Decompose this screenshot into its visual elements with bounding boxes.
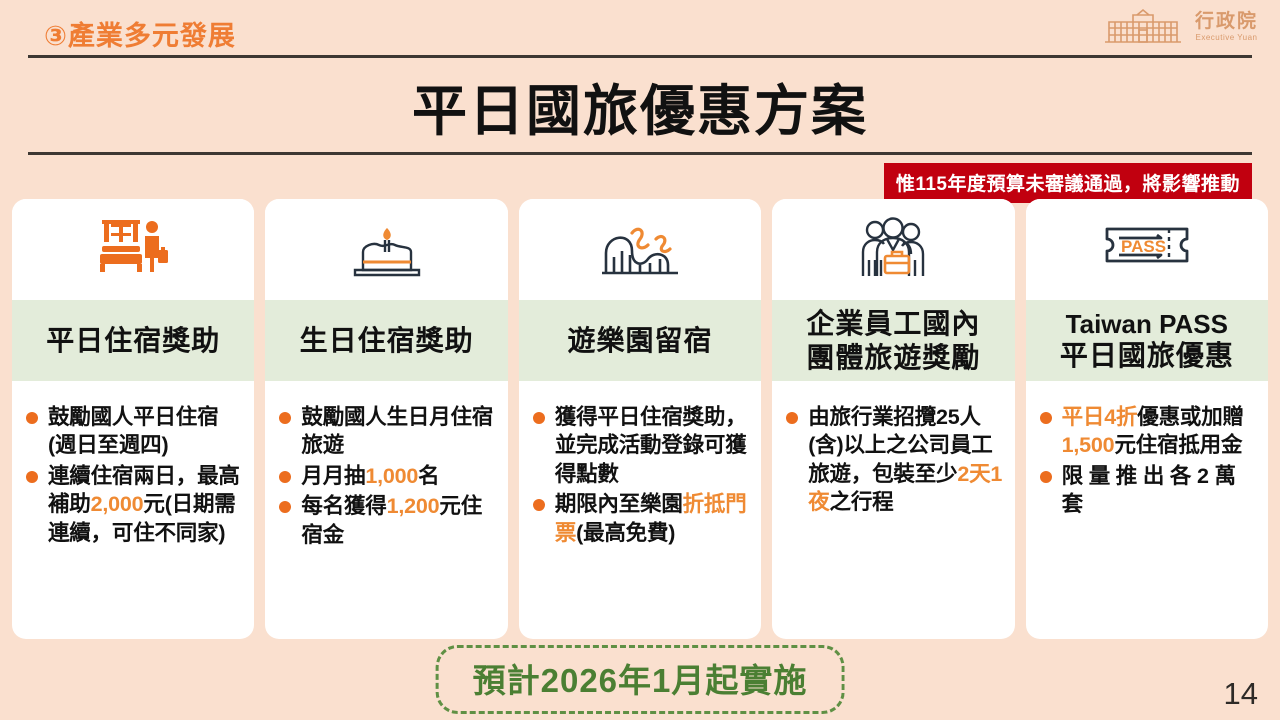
list-item: 每名獲得1,200元住宿金 [277, 492, 495, 549]
card-icon [772, 199, 1014, 300]
list-item: 平日4折優惠或加贈1,500元住宿抵用金 [1038, 403, 1256, 460]
card-title-line: 平日國旅優惠 [1060, 339, 1234, 372]
card-icon [12, 199, 254, 300]
bullet-text: 月月抽 [301, 464, 365, 488]
bullet-highlight: 平日4折 [1062, 405, 1138, 429]
program-card-list: 平日住宿獎助 鼓勵國人平日住宿(週日至週四) 連續住宿兩日，最高補助2,000元… [12, 199, 1268, 639]
bullet-list: 鼓勵國人生日月住宿旅遊 月月抽1,000名 每名獲得1,200元住宿金 [277, 403, 495, 549]
card-icon [265, 199, 507, 300]
bullet-highlight: 1,000 [365, 464, 418, 488]
logo-english: Executive Yuan [1195, 34, 1258, 42]
bullet-text: 鼓勵國人平日住宿(週日至週四) [48, 405, 218, 457]
page-title: 平日國旅優惠方案 [0, 66, 1280, 146]
bullet-text: 優惠或加贈 [1137, 405, 1244, 429]
bullet-highlight: 2,000 [91, 492, 144, 516]
card-body: 由旅行業招攬25人(含)以上之公司員工旅遊，包裝至少2天1夜之行程 [772, 381, 1014, 639]
pass-label: PASS [1121, 237, 1166, 256]
list-item: 限 量 推 出 各 2 萬套 [1038, 462, 1256, 519]
card-title: 企業員工國內 團體旅遊獎勵 [772, 300, 1014, 381]
card-icon: PASS [1026, 199, 1268, 300]
executive-yuan-logo: 行政院 Executive Yuan [1099, 6, 1258, 48]
card-title: 遊樂園留宿 [519, 300, 761, 381]
list-item: 鼓勵國人平日住宿(週日至週四) [24, 403, 242, 460]
list-item: 月月抽1,000名 [277, 462, 495, 490]
card-body: 鼓勵國人平日住宿(週日至週四) 連續住宿兩日，最高補助2,000元(日期需連續，… [12, 381, 254, 639]
program-card: 生日住宿獎助 鼓勵國人生日月住宿旅遊 月月抽1,000名 每名獲得1,200元住… [265, 199, 507, 639]
bullet-highlight: 1,500 [1062, 433, 1115, 457]
pass-ticket-icon: PASS [1099, 221, 1195, 279]
card-title: Taiwan PASS 平日國旅優惠 [1026, 300, 1268, 381]
card-title-line: 生日住宿獎助 [300, 324, 474, 357]
card-body: 平日4折優惠或加贈1,500元住宿抵用金 限 量 推 出 各 2 萬套 [1026, 381, 1268, 639]
bullet-text: 之行程 [830, 490, 894, 514]
section-tag: ③產業多元發展 [44, 14, 236, 53]
logo-text: 行政院 Executive Yuan [1195, 12, 1258, 42]
bullet-text: 每名獲得 [301, 494, 386, 518]
bullet-list: 獲得平日住宿獎助，並完成活動登錄可獲得點數 期限內至樂園折抵門票(最高免費) [531, 403, 749, 547]
roller-coaster-icon [598, 217, 682, 283]
card-title: 生日住宿獎助 [265, 300, 507, 381]
card-title: 平日住宿獎助 [12, 300, 254, 381]
bullet-list: 鼓勵國人平日住宿(週日至週四) 連續住宿兩日，最高補助2,000元(日期需連續，… [24, 403, 242, 547]
birthday-cake-icon [347, 218, 427, 282]
implementation-date-banner: 預計2026年1月起實施 [436, 645, 845, 714]
card-body: 獲得平日住宿獎助，並完成活動登錄可獲得點數 期限內至樂園折抵門票(最高免費) [519, 381, 761, 639]
program-card: 企業員工國內 團體旅遊獎勵 由旅行業招攬25人(含)以上之公司員工旅遊，包裝至少… [772, 199, 1014, 639]
slide: ③產業多元發展 行政院 Executive Yuan 平日國旅優惠方案 惟115… [0, 0, 1280, 720]
budget-notice-banner: 惟115年度預算未審議通過，將影響推動 [884, 163, 1252, 203]
card-title-line: 團體旅遊獎勵 [806, 341, 980, 374]
bullet-text: 名 [418, 464, 439, 488]
card-title-line: 遊樂園留宿 [568, 324, 713, 357]
bullet-text: 期限內至樂園 [555, 492, 683, 516]
list-item: 由旅行業招攬25人(含)以上之公司員工旅遊，包裝至少2天1夜之行程 [784, 403, 1002, 517]
bullet-text: 獲得平日住宿獎助，並完成活動登錄可獲得點數 [555, 405, 747, 486]
bullet-list: 平日4折優惠或加贈1,500元住宿抵用金 限 量 推 出 各 2 萬套 [1038, 403, 1256, 519]
program-card: 遊樂園留宿 獲得平日住宿獎助，並完成活動登錄可獲得點數 期限內至樂園折抵門票(最… [519, 199, 761, 639]
list-item: 期限內至樂園折抵門票(最高免費) [531, 490, 749, 547]
card-icon [519, 199, 761, 300]
page-number: 14 [1224, 676, 1258, 712]
business-people-briefcase-icon [853, 216, 933, 284]
card-body: 鼓勵國人生日月住宿旅遊 月月抽1,000名 每名獲得1,200元住宿金 [265, 381, 507, 639]
program-card: PASS Taiwan PASS 平日國旅優惠 平日4折優惠或加贈1,500元住… [1026, 199, 1268, 639]
program-card: 平日住宿獎助 鼓勵國人平日住宿(週日至週四) 連續住宿兩日，最高補助2,000元… [12, 199, 254, 639]
header-divider-top [28, 55, 1252, 58]
bullet-list: 由旅行業招攬25人(含)以上之公司員工旅遊，包裝至少2天1夜之行程 [784, 403, 1002, 517]
list-item: 連續住宿兩日，最高補助2,000元(日期需連續，可住不同家) [24, 462, 242, 547]
card-title-line: Taiwan PASS [1066, 309, 1228, 340]
executive-yuan-building-icon [1099, 6, 1187, 48]
bullet-text: 限 量 推 出 各 2 萬套 [1062, 464, 1236, 516]
bullet-text: (最高免費) [576, 521, 675, 545]
list-item: 鼓勵國人生日月住宿旅遊 [277, 403, 495, 460]
bullet-text: 元住宿抵用金 [1114, 433, 1242, 457]
header-divider-bottom [28, 152, 1252, 155]
hotel-bed-traveler-icon [96, 216, 170, 284]
list-item: 獲得平日住宿獎助，並完成活動登錄可獲得點數 [531, 403, 749, 488]
logo-chinese: 行政院 [1195, 12, 1258, 31]
card-title-line: 平日住宿獎助 [46, 324, 220, 357]
card-title-line: 企業員工國內 [806, 307, 980, 340]
bullet-highlight: 1,200 [387, 494, 440, 518]
bullet-text: 鼓勵國人生日月住宿旅遊 [301, 405, 493, 457]
